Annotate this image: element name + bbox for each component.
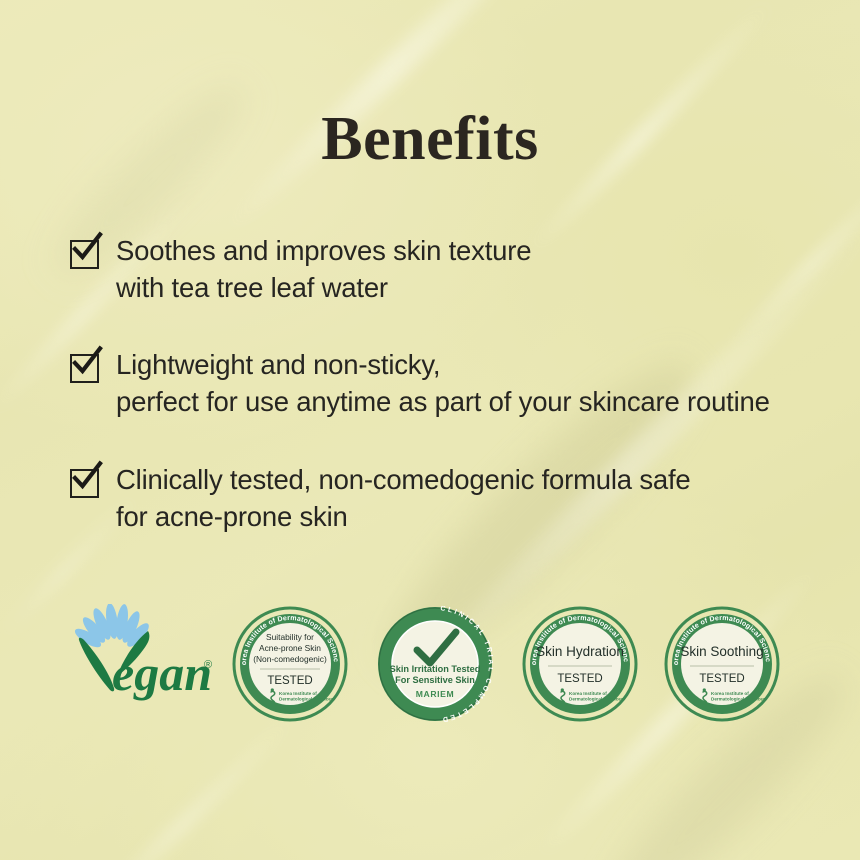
badge-line: (Non-comedogenic) [253,654,327,664]
badge-line: Suitability for [266,632,314,642]
badge-skin-irritation: CLINICAL TRIAL COMPLETED Skin Irritation… [377,606,493,722]
badge-line: Acne-prone Skin [259,643,321,653]
checkmark-icon [70,240,99,269]
badge-skin-soothing: Korea Institute of Dermatological Scienc… [664,606,780,722]
badge-footer-line: Korea Institute of [569,691,607,696]
benefit-text: Clinically tested, non-comedogenic formu… [116,461,691,535]
badge-suitability-acne-prone: Korea Institute of Dermatological Scienc… [232,606,348,722]
list-item: Soothes and improves skin texture with t… [70,232,810,306]
badge-status: TESTED [699,673,744,685]
vegan-logo: egan ® [62,604,222,724]
badge-line: Skin Soothing [680,644,763,659]
badge-footer-line: Dermatological Sciences [569,697,624,702]
badge-skin-hydration: Korea Institute of Dermatological Scienc… [522,606,638,722]
badge-footer-line: Dermatological Sciences [279,697,334,702]
benefits-list: Soothes and improves skin texture with t… [70,232,810,575]
benefits-poster: Benefits Soothes and improves skin textu… [0,0,860,860]
badge-line: Skin Irritation Tested [390,664,481,674]
badge-line: Skin Hydration [536,644,624,659]
benefit-text: Soothes and improves skin texture with t… [116,232,531,306]
badge-footer-line: Korea Institute of [711,691,749,696]
list-item: Clinically tested, non-comedogenic formu… [70,461,810,535]
list-item: Lightweight and non-sticky, perfect for … [70,346,810,420]
benefit-text: Lightweight and non-sticky, perfect for … [116,346,770,420]
registered-mark: ® [204,659,212,671]
badge-status: TESTED [267,675,312,687]
certification-row: egan ® Korea Institute of Dermatological… [0,596,860,726]
badge-line: For Sensitive Skin [395,675,475,685]
checkmark-icon [70,469,99,498]
badge-footer-line: MARIEM [416,689,454,699]
vegan-wordmark: egan [112,645,212,701]
page-title: Benefits [0,104,860,175]
badge-footer-line: Korea Institute of [279,691,317,696]
badge-status: TESTED [557,673,602,685]
badge-footer-line: Dermatological Sciences [711,697,766,702]
checkmark-icon [70,354,99,383]
